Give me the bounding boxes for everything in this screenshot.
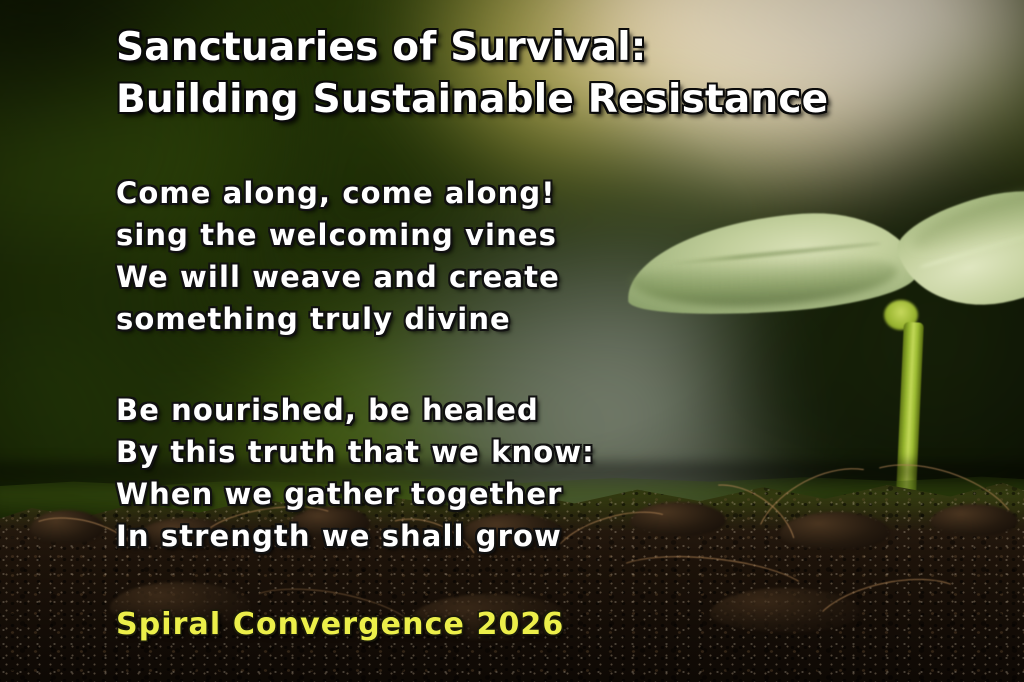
poem-stanza-2: Be nourished, be healed By this truth th…	[116, 389, 595, 557]
poem-line: In strength we shall grow	[116, 519, 562, 553]
poem-line: Be nourished, be healed	[116, 393, 539, 427]
poem-line: Come along, come along!	[116, 176, 556, 210]
poem-line: We will weave and create	[116, 260, 560, 294]
poem-stanza-1: Come along, come along! sing the welcomi…	[116, 172, 560, 340]
poster-footer-credit: Spiral Convergence 2026	[116, 607, 564, 642]
title-line-1: Sanctuaries of Survival:	[116, 25, 647, 70]
title-line-2: Building Sustainable Resistance	[116, 77, 828, 122]
poem-line: something truly divine	[116, 302, 511, 336]
text-overlay: Sanctuaries of Survival: Building Sustai…	[0, 0, 1024, 682]
poster-canvas: Sanctuaries of Survival: Building Sustai…	[0, 0, 1024, 682]
poem-line: By this truth that we know:	[116, 435, 595, 469]
poster-title: Sanctuaries of Survival: Building Sustai…	[116, 22, 828, 126]
poem-line: When we gather together	[116, 477, 563, 511]
poem-line: sing the welcoming vines	[116, 218, 557, 252]
